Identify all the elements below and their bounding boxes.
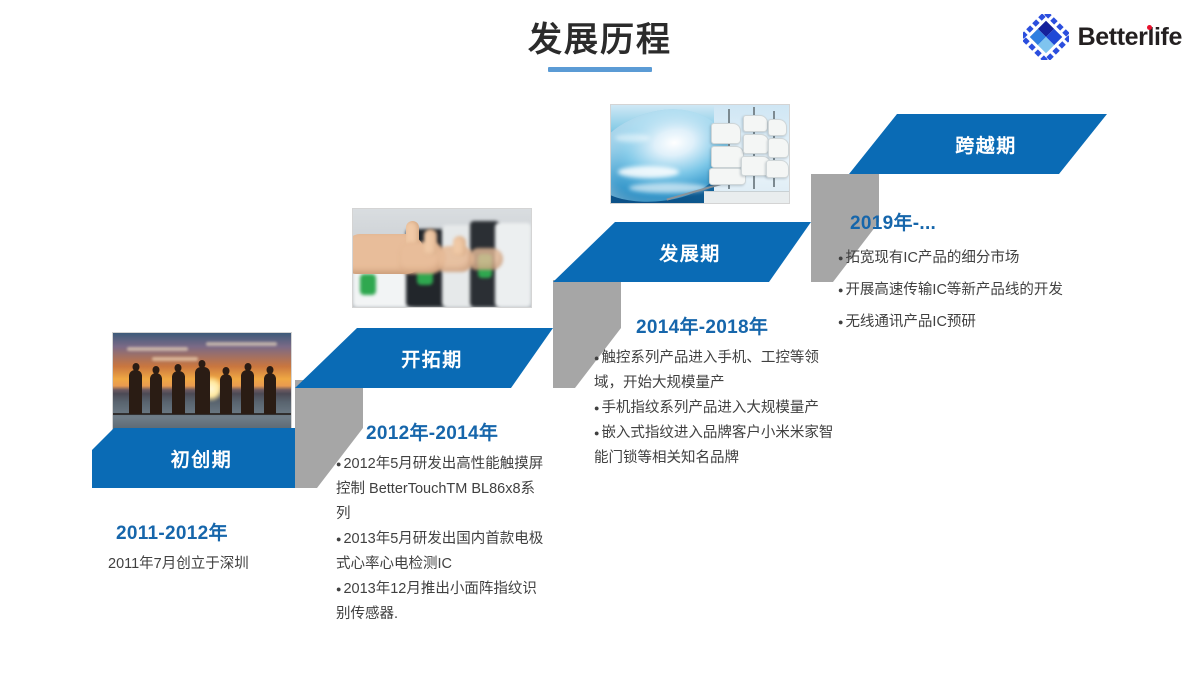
stage-1-description: 2011年7月创立于深圳 bbox=[108, 552, 338, 577]
list-item: 2013年5月研发出国内首款电极式心率心电检测IC bbox=[336, 527, 548, 577]
list-item: 手机指纹系列产品进入大规模量产 bbox=[594, 396, 834, 421]
stage-1-photo bbox=[112, 332, 292, 432]
title-underline-rule bbox=[548, 67, 652, 72]
page-header: 发展历程 bbox=[0, 18, 1200, 72]
stage-3-photo bbox=[610, 104, 790, 204]
stage-2-banner-label: 开拓期 bbox=[401, 345, 463, 372]
list-item: 嵌入式指纹进入品牌客户小米米家智能门锁等相关知名品牌 bbox=[594, 421, 834, 471]
page-title: 发展历程 bbox=[0, 18, 1200, 62]
stage-1-period: 2011-2012年 bbox=[116, 518, 338, 545]
brand-dot-icon bbox=[1147, 25, 1152, 30]
stage-3-banner[interactable]: 发展期 bbox=[553, 222, 811, 282]
stage-3-bullet-list: 触控系列产品进入手机、工控等领域，开始大规模量产 手机指纹系列产品进入大规模量产… bbox=[594, 346, 834, 471]
stage-2-banner[interactable]: 开拓期 bbox=[295, 328, 553, 388]
list-item: 触控系列产品进入手机、工控等领域，开始大规模量产 bbox=[594, 346, 834, 396]
stage-4-bullet-list: 拓宽现有IC产品的细分市场 开展高速传输IC等新产品线的开发 无线通讯产品IC预… bbox=[838, 242, 1088, 338]
stage-2-photo bbox=[352, 208, 532, 308]
list-item: 2012年5月研发出高性能触摸屏控制 BetterTouchTM BL86x8系… bbox=[336, 452, 548, 527]
brand-name: Betterlife bbox=[1078, 23, 1182, 52]
list-item: 无线通讯产品IC预研 bbox=[838, 306, 1088, 338]
stage-2-bullet-list: 2012年5月研发出高性能触摸屏控制 BetterTouchTM BL86x8系… bbox=[336, 452, 548, 627]
stage-4-period: 2019年-... bbox=[850, 208, 1088, 235]
list-item: 开展高速传输IC等新产品线的开发 bbox=[838, 274, 1088, 306]
stage-4-text-block: 2019年-... 拓宽现有IC产品的细分市场 开展高速传输IC等新产品线的开发… bbox=[838, 208, 1088, 338]
list-item: 拓宽现有IC产品的细分市场 bbox=[838, 242, 1088, 274]
stage-3-banner-label: 发展期 bbox=[659, 239, 721, 266]
list-item: 2013年12月推出小面阵指纹识别传感器. bbox=[336, 577, 548, 627]
brand-name-text: Betterlife bbox=[1078, 23, 1182, 51]
stage-1-banner-label: 初创期 bbox=[171, 445, 233, 472]
stage-1-text-block: 2011-2012年 2011年7月创立于深圳 bbox=[108, 518, 338, 577]
stage-2-period: 2012年-2014年 bbox=[366, 418, 548, 445]
stage-3-period: 2014年-2018年 bbox=[636, 312, 834, 339]
stage-2-text-block: 2012年-2014年 2012年5月研发出高性能触摸屏控制 BetterTou… bbox=[336, 418, 548, 627]
stage-1-banner[interactable]: 初创期 bbox=[92, 428, 295, 488]
stage-4-banner-label: 跨越期 bbox=[955, 131, 1017, 158]
brand-logo: Betterlife bbox=[1023, 14, 1182, 60]
diamond-logo-icon bbox=[1023, 14, 1069, 60]
stage-3-text-block: 2014年-2018年 触控系列产品进入手机、工控等领域，开始大规模量产 手机指… bbox=[594, 312, 834, 471]
stage-4-banner[interactable]: 跨越期 bbox=[849, 114, 1107, 174]
